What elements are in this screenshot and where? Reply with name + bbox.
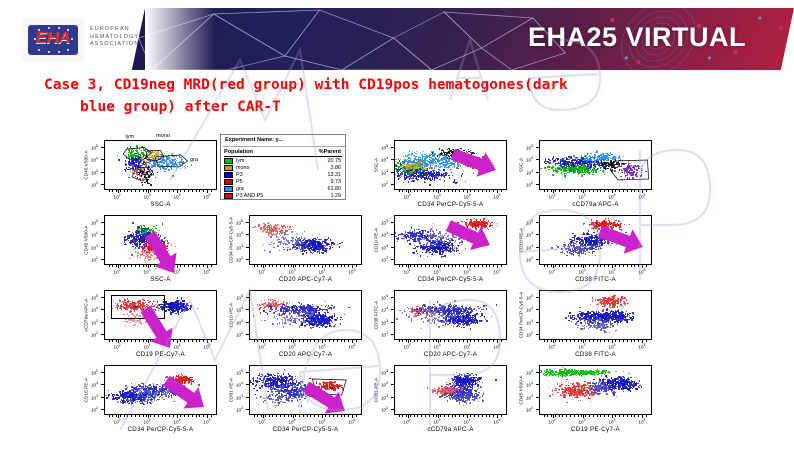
x-axis-minor-tick: [410, 190, 411, 192]
x-axis-minor-tick: [356, 265, 357, 267]
y-axis-tick: [101, 147, 104, 148]
x-axis-minor-tick: [158, 190, 159, 192]
x-axis-tick-label: 104: [463, 193, 470, 200]
data-point: [133, 237, 134, 238]
flow-cytometry-plot-grid: lymmonogra102102103103104104105105CD45 V…: [0, 126, 794, 444]
y-axis-tick: [536, 172, 539, 173]
x-axis-minor-tick: [440, 190, 441, 192]
y-axis-tick-label: 105: [526, 144, 533, 151]
data-point: [444, 176, 445, 177]
x-axis-minor-tick: [310, 265, 311, 267]
data-point: [310, 252, 311, 253]
x-axis-minor-tick: [425, 190, 426, 192]
data-point: [146, 232, 147, 233]
x-axis-minor-tick: [399, 190, 400, 192]
gate-label: P3: [629, 164, 634, 169]
data-point: [137, 252, 138, 253]
slide-title-line2: blue group) after CAR-T: [44, 96, 764, 118]
x-axis-minor-tick: [257, 265, 258, 267]
x-axis-minor-tick: [261, 265, 262, 267]
x-axis-minor-tick: [318, 265, 319, 267]
x-axis-minor-tick: [295, 265, 296, 267]
x-axis-minor-tick: [497, 190, 498, 192]
data-point: [306, 244, 307, 245]
data-point: [420, 238, 421, 239]
x-axis-minor-tick: [486, 190, 487, 192]
x-axis-minor-tick: [597, 190, 598, 192]
data-point: [323, 246, 324, 247]
data-point: [435, 174, 436, 175]
x-axis-minor-tick: [344, 265, 345, 267]
data-point: [418, 236, 419, 237]
eha-logo-text: EHA: [28, 28, 78, 48]
scatter-plot-r1c2: 102102103103104104105105SSC-ACD34 PerCP-…: [364, 134, 513, 212]
data-point: [443, 150, 444, 151]
y-axis-tick: [391, 184, 394, 185]
x-axis-minor-tick: [414, 190, 415, 192]
x-axis-minor-tick: [143, 190, 144, 192]
slide-title-line1: Case 3, CD19neg MRD(red group) with CD19…: [44, 77, 568, 93]
data-point: [405, 231, 406, 232]
data-point: [439, 160, 440, 161]
x-axis-minor-tick: [444, 190, 445, 192]
x-axis-minor-tick: [207, 190, 208, 192]
x-axis-minor-tick: [180, 190, 181, 192]
data-point: [330, 247, 331, 248]
data-point: [424, 170, 425, 171]
y-axis-tick: [101, 184, 104, 185]
data-point: [445, 172, 446, 173]
data-point: [281, 232, 282, 233]
data-point: [446, 154, 447, 155]
data-point: [426, 238, 427, 239]
data-point: [457, 250, 458, 251]
data-point: [405, 160, 406, 161]
data-point: [417, 253, 418, 254]
y-axis-tick: [246, 259, 249, 260]
data-point: [137, 255, 138, 256]
y-axis-tick: [101, 222, 104, 223]
y-axis-tick-label: 105: [91, 144, 98, 151]
data-point: [408, 162, 409, 163]
data-point: [441, 162, 442, 163]
data-point: [444, 255, 445, 256]
data-point: [412, 178, 413, 179]
data-point: [427, 239, 428, 240]
x-axis-minor-tick: [146, 190, 147, 192]
data-point: [341, 242, 342, 243]
data-point: [412, 231, 413, 232]
data-point: [300, 241, 301, 242]
data-point: [291, 240, 292, 241]
data-point: [144, 259, 145, 260]
data-point: [456, 250, 457, 251]
data-point: [436, 172, 437, 173]
x-axis-minor-tick: [124, 265, 125, 267]
x-axis-minor-tick: [337, 265, 338, 267]
x-axis-minor-tick: [604, 190, 605, 192]
data-point: [449, 177, 450, 178]
y-axis-tick: [391, 147, 394, 148]
y-axis-tick: [536, 184, 539, 185]
data-point: [258, 224, 259, 225]
data-point: [445, 158, 446, 159]
x-axis-minor-tick: [608, 190, 609, 192]
x-axis-minor-tick: [211, 190, 212, 192]
data-point: [441, 247, 442, 248]
x-axis-tick-label: 105: [348, 268, 355, 275]
data-point: [267, 230, 268, 231]
x-axis-minor-tick: [116, 265, 117, 267]
x-axis-minor-tick: [634, 190, 635, 192]
data-point: [277, 245, 278, 246]
data-point: [260, 228, 261, 229]
y-axis-tick: [101, 259, 104, 260]
scatter-plot-r1c1: lymmonogra102102103103104104105105CD45 V…: [74, 134, 223, 212]
data-point: [318, 250, 319, 251]
data-point: [273, 247, 274, 248]
population-label-lym: lym: [125, 134, 134, 140]
x-axis-minor-tick: [544, 190, 545, 192]
data-point: [269, 228, 270, 229]
gate-polygons[interactable]: [104, 140, 217, 190]
data-point: [429, 184, 430, 185]
data-point: [461, 175, 462, 176]
data-point: [271, 242, 272, 243]
y-axis-tick-label: 105: [381, 144, 388, 151]
x-axis-minor-tick: [139, 265, 140, 267]
x-axis-tick-label: 104: [608, 193, 615, 200]
data-point: [309, 243, 310, 244]
data-point: [413, 180, 414, 181]
data-point: [295, 242, 296, 243]
data-point: [422, 154, 423, 155]
data-point: [136, 233, 137, 234]
x-axis-minor-tick: [196, 265, 197, 267]
x-axis-minor-tick: [314, 265, 315, 267]
data-point: [411, 174, 412, 175]
eha-logo-wordmark: EUROPEAN HEMATOLOGY ASSOCIATION: [90, 26, 139, 49]
data-point: [302, 253, 303, 254]
data-point: [324, 241, 325, 242]
data-point: [414, 233, 415, 234]
scatter-plot-r2c2: 102102103103104104105105CD34 PerCP-Cy5-5…: [219, 209, 368, 287]
scatter-plot-r2c3: 102102103103104104105105CD10 PE-ACD34 Pe…: [364, 209, 513, 287]
y-axis-tick-label: 102: [91, 181, 98, 188]
x-axis-minor-tick: [574, 190, 575, 192]
data-point: [130, 243, 131, 244]
y-axis-tick-label: 103: [381, 169, 388, 176]
x-axis-minor-tick: [116, 190, 117, 192]
data-point: [443, 169, 444, 170]
x-axis-label: CD20 APC-Cy7-A: [237, 276, 374, 283]
data-point: [271, 231, 272, 232]
x-axis-minor-tick: [254, 265, 255, 267]
x-axis-minor-tick: [600, 190, 601, 192]
x-axis-minor-tick: [120, 190, 121, 192]
data-point: [435, 158, 436, 159]
data-point: [327, 248, 328, 249]
x-axis-minor-tick: [463, 190, 464, 192]
y-axis-tick: [536, 147, 539, 148]
x-axis-tick-label: 103: [144, 268, 151, 275]
x-axis-minor-tick: [322, 265, 323, 267]
y-axis-label: CD45 V500-A: [84, 137, 89, 193]
data-point: [143, 234, 144, 235]
x-axis-minor-tick: [329, 265, 330, 267]
x-axis-minor-tick: [478, 190, 479, 192]
slide-title: Case 3, CD19neg MRD(red group) with CD19…: [44, 74, 764, 118]
x-axis-minor-tick: [417, 190, 418, 192]
x-axis-minor-tick: [448, 190, 449, 192]
data-point: [424, 166, 425, 167]
y-axis-tick: [246, 247, 249, 248]
y-axis-tick-label: 104: [381, 156, 388, 163]
data-point: [442, 249, 443, 250]
data-point: [447, 157, 448, 158]
data-point: [444, 166, 445, 167]
data-point: [291, 229, 292, 230]
x-axis-minor-tick: [348, 265, 349, 267]
data-point: [402, 162, 403, 163]
data-point: [432, 152, 433, 153]
x-axis-minor-tick: [146, 265, 147, 267]
data-point: [430, 164, 431, 165]
data-point: [339, 246, 340, 247]
data-point: [401, 165, 402, 166]
x-axis-minor-tick: [589, 190, 590, 192]
x-axis-minor-tick: [433, 190, 434, 192]
data-point: [311, 247, 312, 248]
x-axis-minor-tick: [638, 190, 639, 192]
data-point: [422, 172, 423, 173]
data-point: [145, 261, 146, 262]
data-point: [451, 248, 452, 249]
x-axis-minor-tick: [421, 190, 422, 192]
data-point: [436, 178, 437, 179]
x-axis-minor-tick: [177, 190, 178, 192]
y-axis-tick: [246, 222, 249, 223]
data-point: [444, 180, 445, 181]
y-axis-tick: [536, 159, 539, 160]
x-axis-minor-tick: [642, 190, 643, 192]
y-axis-tick-label: 105: [236, 219, 243, 226]
y-axis-tick-label: 103: [91, 169, 98, 176]
x-axis-minor-tick: [429, 190, 430, 192]
x-axis-minor-tick: [585, 190, 586, 192]
data-point: [284, 243, 285, 244]
data-point: [138, 226, 139, 227]
eha-logo: EHA EUROPEAN HEMATOLOGY ASSOCIATION: [22, 18, 134, 62]
x-axis-minor-tick: [615, 190, 616, 192]
x-axis-minor-tick: [162, 190, 163, 192]
x-axis-minor-tick: [109, 265, 110, 267]
data-point: [298, 238, 299, 239]
data-point: [430, 157, 431, 158]
data-point: [433, 170, 434, 171]
data-point: [330, 239, 331, 240]
x-axis-minor-tick: [112, 190, 113, 192]
x-axis-minor-tick: [467, 190, 468, 192]
data-point: [324, 250, 325, 251]
data-point: [423, 176, 424, 177]
data-point: [284, 232, 285, 233]
data-point: [398, 158, 399, 159]
data-point: [301, 237, 302, 238]
x-axis-tick-label: 102: [404, 193, 411, 200]
data-point: [437, 155, 438, 156]
data-point: [420, 233, 421, 234]
data-point: [439, 179, 440, 180]
x-axis-minor-tick: [127, 265, 128, 267]
data-point: [143, 231, 144, 232]
data-point: [143, 228, 144, 229]
data-point: [433, 252, 434, 253]
x-axis-minor-tick: [207, 265, 208, 267]
y-axis-label: SSC-A: [519, 137, 524, 193]
y-axis-tick-label: 103: [91, 244, 98, 251]
scatter-plot-r1c3: P3102102103103104104105105SSC-AcCD79a AP…: [509, 134, 658, 212]
y-axis-tick: [101, 159, 104, 160]
x-axis-minor-tick: [612, 190, 613, 192]
data-point: [448, 175, 449, 176]
data-point: [263, 228, 264, 229]
eha-logo-line1: EUROPEAN: [90, 26, 139, 34]
data-point: [322, 247, 323, 248]
x-axis-minor-tick: [436, 190, 437, 192]
data-point: [416, 165, 417, 166]
x-axis-minor-tick: [627, 190, 628, 192]
data-point: [317, 237, 318, 238]
x-axis-minor-tick: [562, 190, 563, 192]
data-point: [303, 243, 304, 244]
gate-polygons[interactable]: [539, 140, 652, 190]
x-axis-minor-tick: [452, 190, 453, 192]
data-point: [316, 246, 317, 247]
y-axis-tick-label: 104: [91, 231, 98, 238]
x-axis-minor-tick: [455, 190, 456, 192]
data-point: [316, 244, 317, 245]
x-axis-tick-label: 104: [318, 268, 325, 275]
data-point: [423, 162, 424, 163]
x-axis-minor-tick: [578, 190, 579, 192]
x-axis-minor-tick: [288, 265, 289, 267]
data-point: [140, 254, 141, 255]
data-point: [299, 247, 300, 248]
data-point: [430, 180, 431, 181]
data-point: [448, 148, 449, 149]
data-point: [286, 244, 287, 245]
y-axis-label: SSC-A: [374, 137, 379, 193]
data-point: [271, 234, 272, 235]
x-axis-minor-tick: [143, 265, 144, 267]
x-axis-tick-label: 103: [434, 193, 441, 200]
y-axis-tick: [101, 247, 104, 248]
x-axis-minor-tick: [150, 190, 151, 192]
y-axis-tick: [101, 234, 104, 235]
data-point: [429, 248, 430, 249]
data-point: [293, 245, 294, 246]
data-point: [274, 234, 275, 235]
data-point: [407, 155, 408, 156]
data-point: [426, 249, 427, 250]
data-point: [411, 226, 412, 227]
x-axis-minor-tick: [402, 190, 403, 192]
data-point: [299, 237, 300, 238]
data-point: [432, 176, 433, 177]
data-point: [421, 177, 422, 178]
data-point: [434, 177, 435, 178]
data-point: [416, 151, 417, 152]
x-axis-minor-tick: [265, 265, 266, 267]
x-axis-minor-tick: [199, 190, 200, 192]
x-axis-minor-tick: [127, 190, 128, 192]
x-axis-minor-tick: [406, 190, 407, 192]
data-point: [404, 169, 405, 170]
x-axis-tick-label: 102: [549, 193, 556, 200]
data-point: [412, 236, 413, 237]
y-axis-tick-label: 102: [91, 256, 98, 263]
x-axis-minor-tick: [299, 265, 300, 267]
y-axis-tick-label: 103: [526, 169, 533, 176]
data-point: [310, 238, 311, 239]
x-axis-minor-tick: [291, 265, 292, 267]
y-axis-tick-label: 103: [236, 244, 243, 251]
data-point: [425, 252, 426, 253]
data-point: [270, 236, 271, 237]
data-point: [277, 224, 278, 225]
data-point: [296, 236, 297, 237]
x-axis-minor-tick: [120, 265, 121, 267]
data-point: [284, 234, 285, 235]
data-point: [417, 159, 418, 160]
data-point: [407, 174, 408, 175]
data-point: [132, 222, 133, 223]
y-axis-tick: [391, 172, 394, 173]
x-axis-tick-label: 103: [144, 193, 151, 200]
data-point: [310, 245, 311, 246]
x-axis-tick-label: 102: [259, 268, 266, 275]
data-point: [407, 167, 408, 168]
x-axis-minor-tick: [276, 265, 277, 267]
x-axis-tick-label: 102: [114, 268, 121, 275]
x-axis-minor-tick: [559, 190, 560, 192]
data-point: [438, 160, 439, 161]
x-axis-tick-label: 105: [203, 193, 210, 200]
data-point: [283, 238, 284, 239]
x-axis-minor-tick: [188, 265, 189, 267]
x-axis-minor-tick: [203, 190, 204, 192]
x-axis-minor-tick: [280, 265, 281, 267]
x-axis-minor-tick: [269, 265, 270, 267]
data-point: [412, 252, 413, 253]
data-point: [291, 231, 292, 232]
y-axis-tick: [101, 172, 104, 173]
data-point: [451, 172, 452, 173]
data-point: [322, 252, 323, 253]
x-axis-minor-tick: [203, 265, 204, 267]
data-point: [328, 237, 329, 238]
data-point: [405, 173, 406, 174]
x-axis-minor-tick: [341, 265, 342, 267]
data-point: [400, 159, 401, 160]
data-point: [428, 172, 429, 173]
x-axis-minor-tick: [169, 190, 170, 192]
x-axis-minor-tick: [199, 265, 200, 267]
x-axis-minor-tick: [196, 190, 197, 192]
x-axis-minor-tick: [135, 190, 136, 192]
x-axis-minor-tick: [623, 190, 624, 192]
